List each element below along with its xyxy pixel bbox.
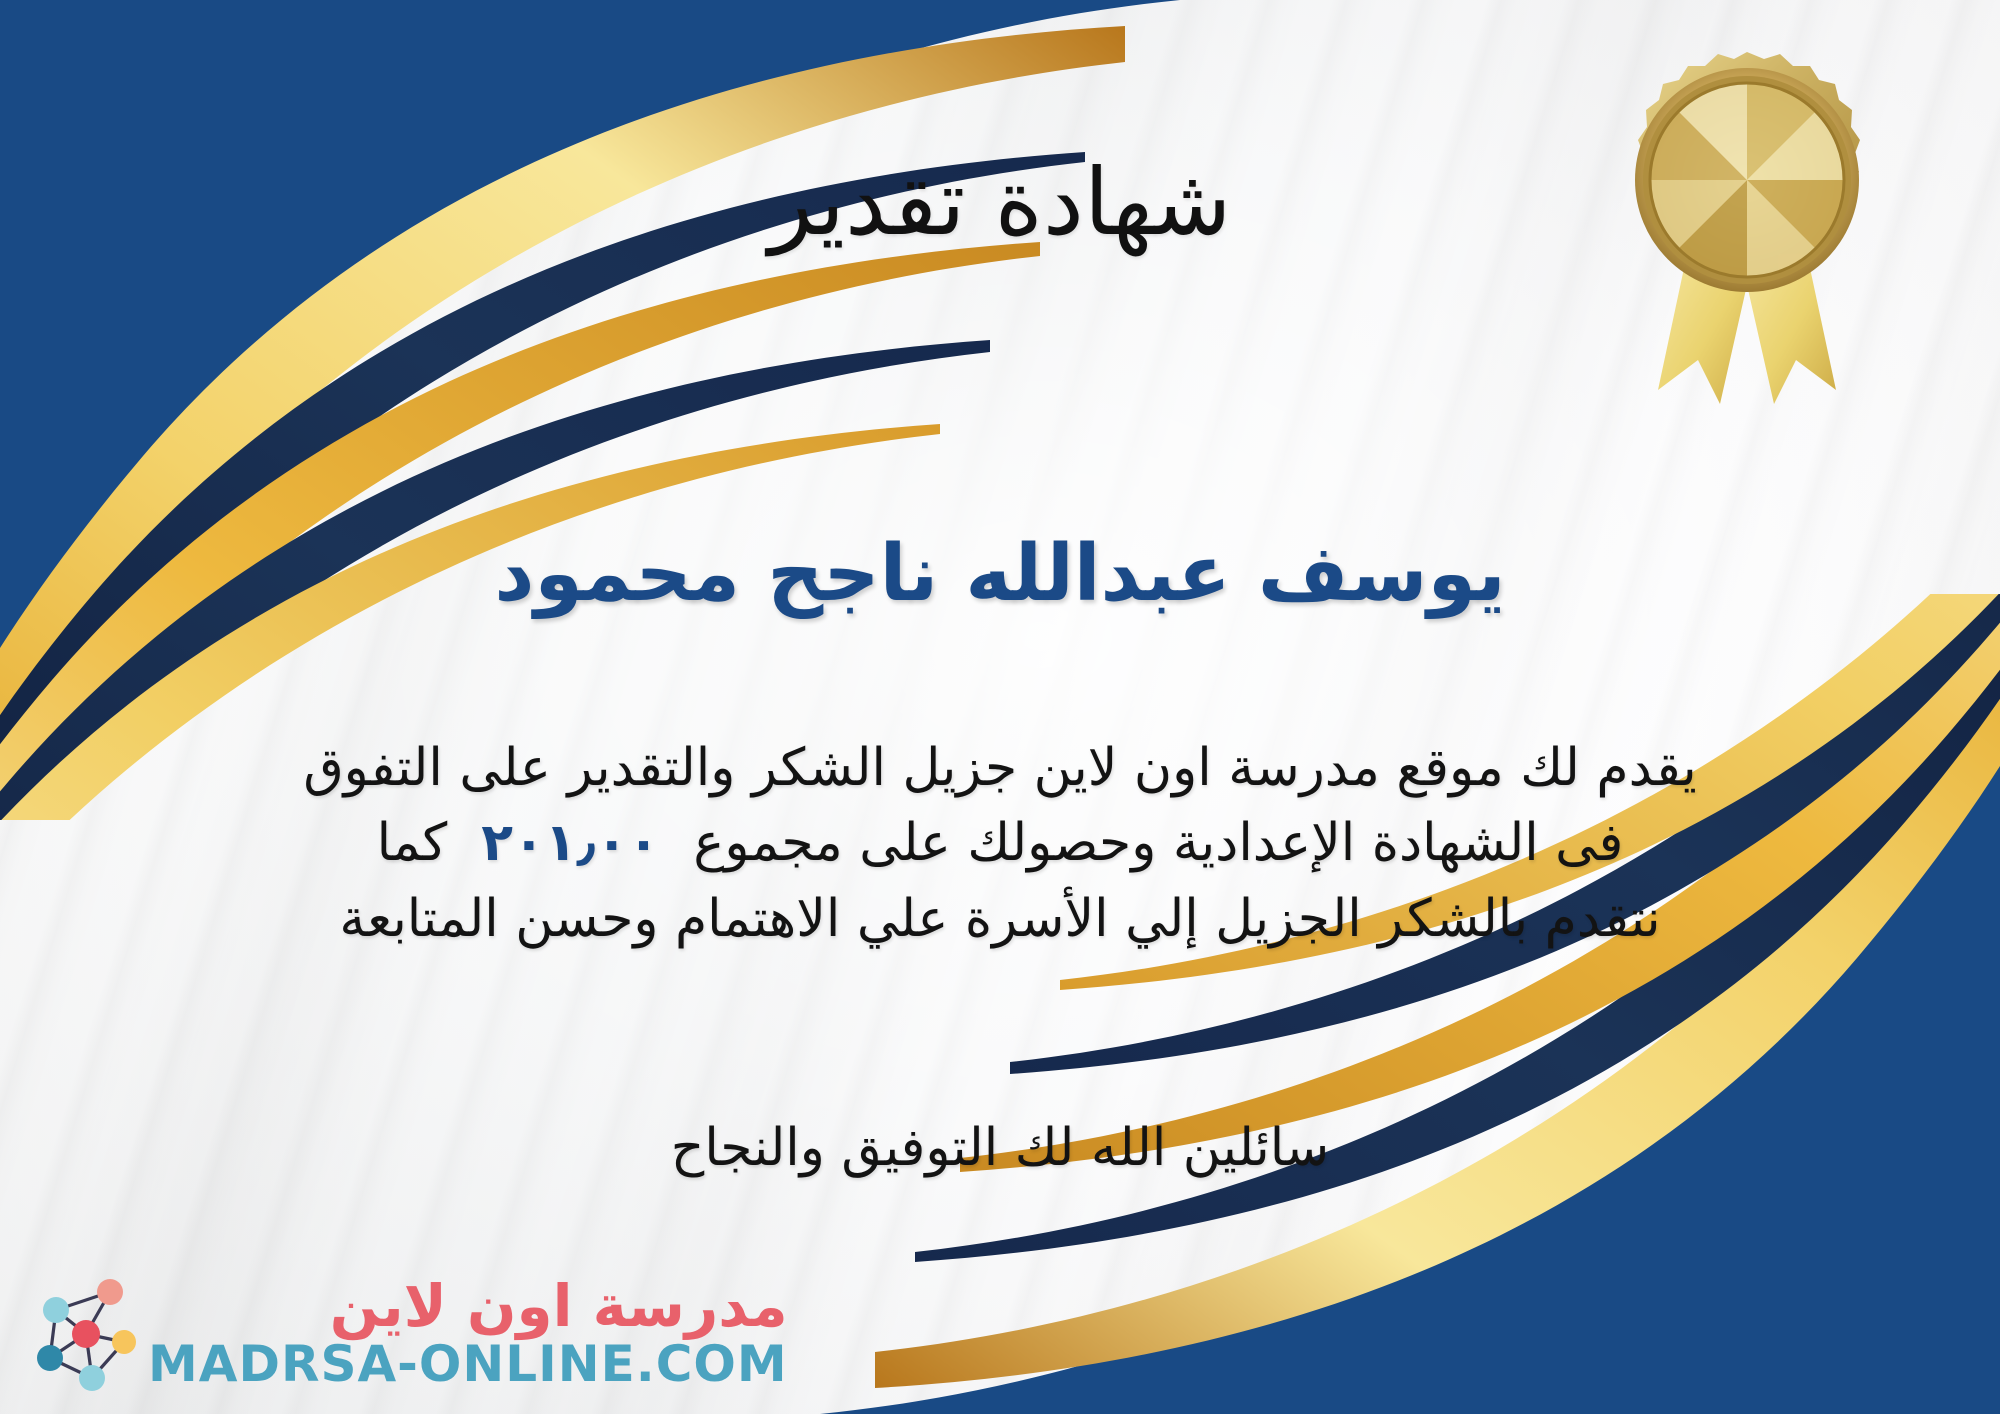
closing-line: سائلين الله لك التوفيق والنجاح (0, 1118, 2000, 1178)
body-line-2: فى الشهادة الإعدادية وحصولك على مجموع٢٠١… (60, 810, 1940, 877)
certificate-canvas: شهادة تقدير يوسف عبدالله ناجح محمود يقدم… (0, 0, 2000, 1414)
network-nodes-icon (28, 1274, 136, 1392)
body-line-2-after: كما (377, 813, 448, 873)
brand-arabic-name: مدرسة اون لاين (148, 1277, 788, 1335)
body-line-2-before: فى الشهادة الإعدادية وحصولك على مجموع (693, 813, 1623, 873)
certificate-body: يقدم لك موقع مدرسة اون لاين جزيل الشكر و… (60, 735, 1940, 953)
brand-text: مدرسة اون لاين MADRSA-ONLINE.COM (148, 1277, 788, 1389)
brand-logo[interactable]: مدرسة اون لاين MADRSA-ONLINE.COM (28, 1274, 788, 1392)
brand-website: MADRSA-ONLINE.COM (148, 1339, 788, 1389)
body-line-3: نتقدم بالشكر الجزيل إلي الأسرة علي الاهت… (60, 886, 1940, 953)
page-title: شهادة تقدير (0, 150, 2000, 256)
recipient-name: يوسف عبدالله ناجح محمود (0, 528, 2000, 622)
score-value: ٢٠١٫٠٠ (447, 813, 693, 873)
body-line-1: يقدم لك موقع مدرسة اون لاين جزيل الشكر و… (60, 735, 1940, 802)
